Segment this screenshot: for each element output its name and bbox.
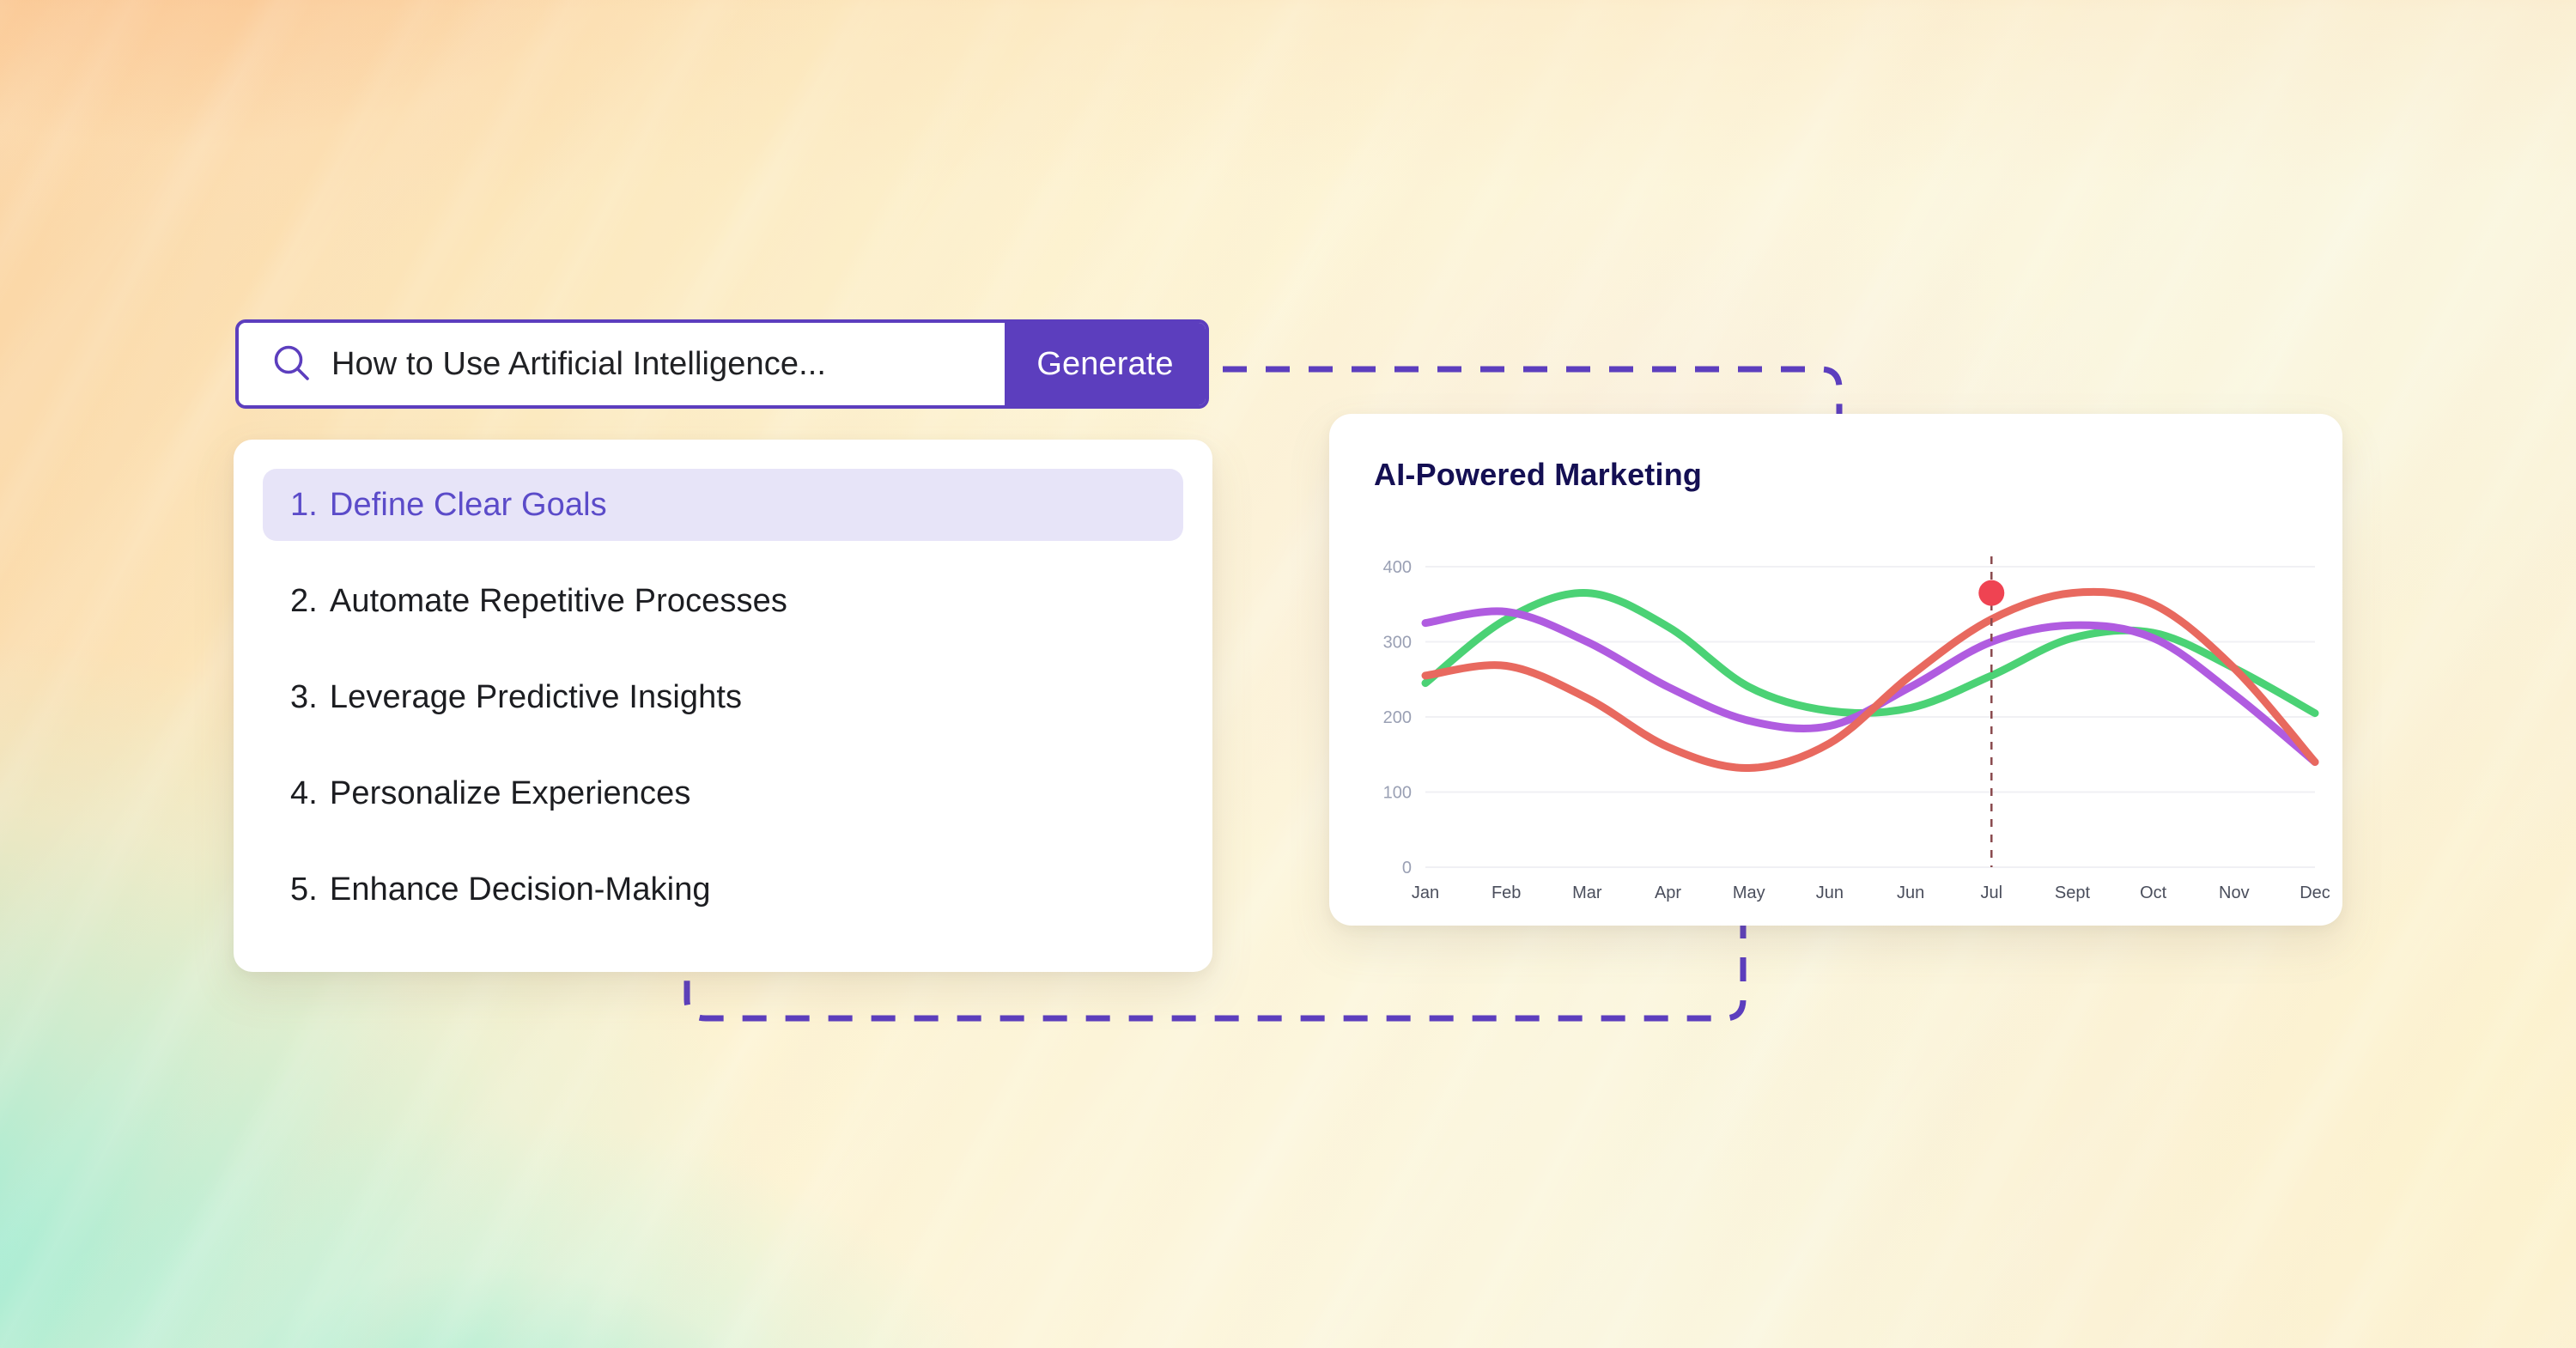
list-item-label: Personalize Experiences <box>330 775 691 812</box>
x-axis-tick-label: Sept <box>2055 883 2091 902</box>
search-input-wrapper[interactable]: How to Use Artificial Intelligence... <box>239 323 1005 405</box>
list-item-number: 4. <box>290 775 318 812</box>
x-axis-tick-label: Jan <box>1412 883 1439 902</box>
x-axis-tick-label: Nov <box>2219 883 2250 902</box>
list-item[interactable]: 5. Enhance Decision-Making <box>263 853 1183 926</box>
list-item-number: 3. <box>290 679 318 716</box>
list-item[interactable]: 4. Personalize Experiences <box>263 757 1183 829</box>
list-item-number: 1. <box>290 487 318 524</box>
list-spacer <box>263 541 1183 565</box>
x-axis-tick-label: Dec <box>2300 883 2330 902</box>
search-input-value[interactable]: How to Use Artificial Intelligence... <box>331 346 826 383</box>
list-item[interactable]: 2. Automate Repetitive Processes <box>263 565 1183 637</box>
y-axis-tick-label: 300 <box>1383 634 1412 653</box>
list-item-number: 5. <box>290 871 318 908</box>
search-bar[interactable]: How to Use Artificial Intelligence... Ge… <box>235 319 1209 409</box>
list-item-label: Automate Repetitive Processes <box>330 583 787 620</box>
y-axis-tick-label: 0 <box>1402 859 1412 877</box>
chart-gridlines <box>1425 567 2315 867</box>
chart-line-red-series <box>1425 592 2315 768</box>
list-item[interactable]: 1. Define Clear Goals <box>263 469 1183 541</box>
chart-series-group <box>1425 592 2315 768</box>
list-item-number: 2. <box>290 583 318 620</box>
x-axis-tick-label: Jun <box>1816 883 1844 902</box>
chart-card: AI-Powered Marketing 0100200300400 JanFe… <box>1329 414 2342 926</box>
y-axis-tick-label: 400 <box>1383 558 1412 577</box>
chart-y-axis-labels: 0100200300400 <box>1383 558 1412 877</box>
y-axis-tick-label: 100 <box>1383 784 1412 803</box>
x-axis-tick-label: May <box>1733 883 1765 902</box>
generate-button[interactable]: Generate <box>1005 323 1206 405</box>
list-spacer <box>263 733 1183 757</box>
x-axis-tick-label: Apr <box>1655 883 1681 902</box>
x-axis-tick-label: Feb <box>1492 883 1521 902</box>
chart-x-axis-labels: JanFebMarAprMayJunJunJulSeptOctNovDec <box>1412 883 2330 902</box>
line-chart[interactable]: 0100200300400 JanFebMarAprMayJunJunJulSe… <box>1329 414 2342 926</box>
list-item-label: Leverage Predictive Insights <box>330 679 742 716</box>
search-icon <box>271 343 313 385</box>
x-axis-tick-label: Oct <box>2140 883 2167 902</box>
list-spacer <box>263 829 1183 853</box>
chart-marker-dot[interactable] <box>1978 580 2004 606</box>
chart-marker-group[interactable] <box>1978 556 2004 867</box>
x-axis-tick-label: Jul <box>1980 883 2002 902</box>
x-axis-tick-label: Mar <box>1572 883 1602 902</box>
x-axis-tick-label: Jun <box>1897 883 1924 902</box>
list-item[interactable]: 3. Leverage Predictive Insights <box>263 661 1183 733</box>
results-list-card: 1. Define Clear Goals 2. Automate Repeti… <box>234 440 1212 972</box>
y-axis-tick-label: 200 <box>1383 708 1412 727</box>
list-item-label: Define Clear Goals <box>330 487 607 524</box>
list-spacer <box>263 637 1183 661</box>
list-item-label: Enhance Decision-Making <box>330 871 711 908</box>
